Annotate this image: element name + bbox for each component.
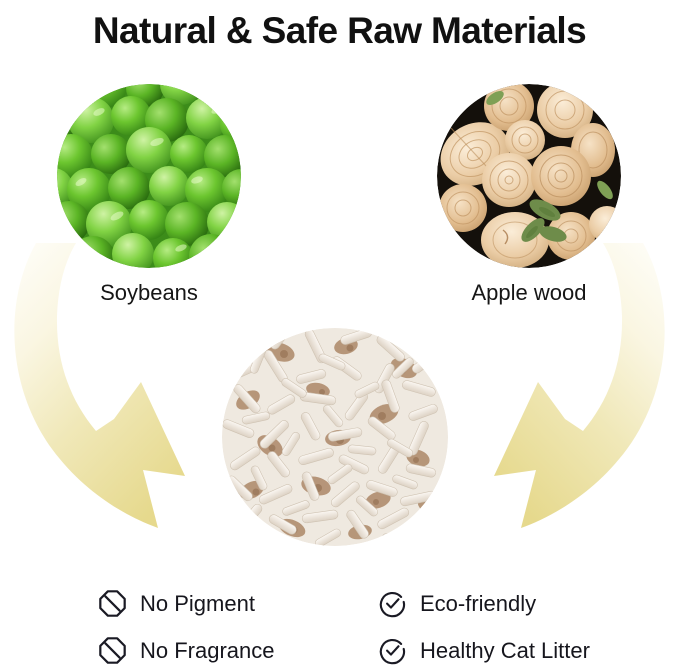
feature-label: Healthy Cat Litter (420, 638, 590, 664)
apple-wood-caption: Apple wood (437, 279, 621, 307)
feature-item-eco-friendly: Eco-friendly (378, 589, 618, 618)
feature-item-healthy-cat-litter: Healthy Cat Litter (378, 636, 618, 665)
page-title: Natural & Safe Raw Materials (0, 8, 679, 54)
feature-row: No Fragrance Healthy Cat Litter (98, 627, 618, 670)
soybeans-caption: Soybeans (57, 279, 241, 307)
no-fragrance-icon (98, 636, 127, 665)
no-pigment-icon (98, 589, 127, 618)
apple-wood-image (437, 84, 621, 268)
feature-label: Eco-friendly (420, 591, 536, 617)
product-infographic: Natural & Safe Raw Materials (0, 0, 679, 670)
feature-label: No Fragrance (140, 638, 275, 664)
soybeans-image (57, 84, 241, 268)
feature-item-no-pigment: No Pigment (98, 589, 378, 618)
eco-friendly-icon (378, 589, 407, 618)
healthy-cat-litter-icon (378, 636, 407, 665)
feature-row: No Pigment Eco-friendly (98, 580, 618, 627)
feature-item-no-fragrance: No Fragrance (98, 636, 378, 665)
cat-litter-image (222, 328, 448, 546)
feature-label: No Pigment (140, 591, 255, 617)
feature-list: No Pigment Eco-friendly (98, 580, 618, 670)
